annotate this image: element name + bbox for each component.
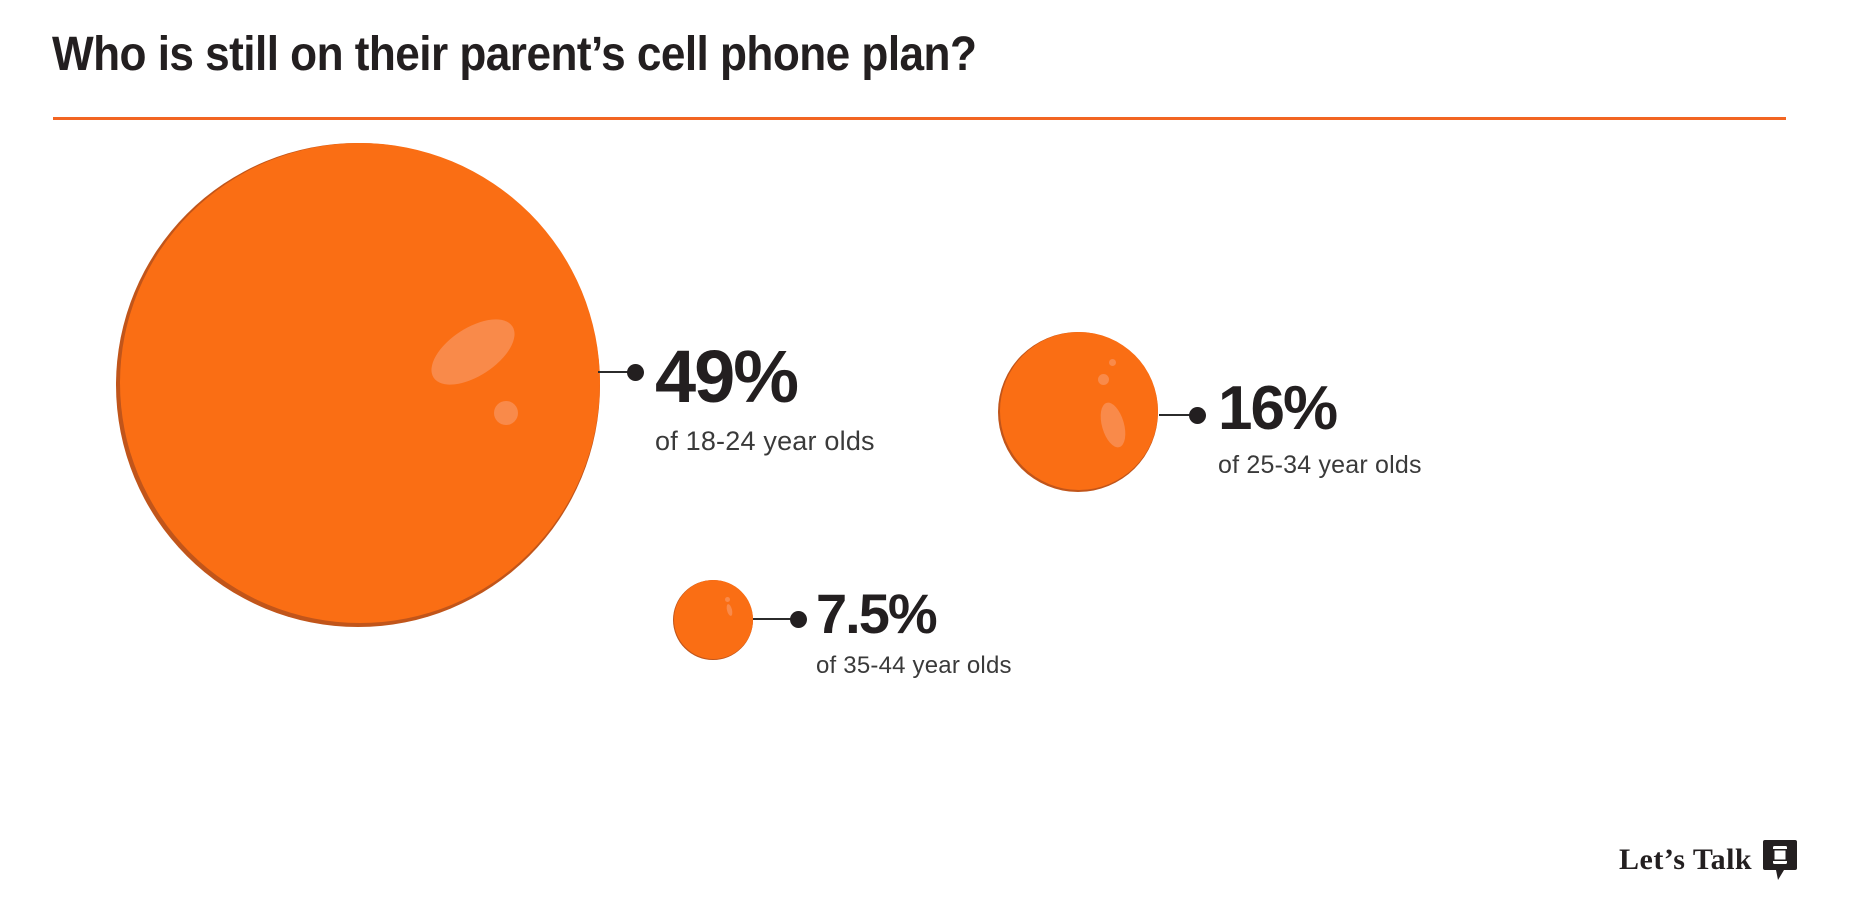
bubble-highlight-dot-small-icon: [1109, 359, 1116, 366]
infographic-canvas: Who is still on their parent’s cell phon…: [0, 0, 1854, 916]
bubble-body: [674, 580, 753, 659]
leader-dot-16: [1189, 407, 1206, 424]
title-divider: [53, 117, 1786, 120]
callout-caption-7-5: of 35-44 year olds: [816, 652, 1012, 680]
callout-value-16: 16%: [1218, 378, 1422, 440]
logo-text: Let’s Talk: [1619, 843, 1752, 877]
callout-16-percent: 16% of 25-34 year olds: [1218, 378, 1422, 480]
leader-dot-49: [627, 364, 644, 381]
callout-7-5-percent: 7.5% of 35-44 year olds: [816, 586, 1012, 680]
bubble-49-percent: [116, 143, 600, 627]
callout-value-49: 49%: [655, 340, 875, 414]
bubble-16-percent: [998, 332, 1158, 492]
bubble-highlight-dot-icon: [494, 401, 518, 425]
bubble-highlight-dot-icon: [725, 597, 730, 602]
callout-value-7-5: 7.5%: [816, 586, 1012, 642]
callout-caption-16: of 25-34 year olds: [1218, 451, 1422, 480]
page-title: Who is still on their parent’s cell phon…: [52, 27, 976, 82]
bubble-highlight-dot-icon: [1098, 374, 1109, 385]
bubble-7-5-percent: [673, 580, 753, 660]
brand-logo: Let’s Talk: [1619, 838, 1798, 882]
bubble-body: [120, 143, 600, 623]
callout-49-percent: 49% of 18-24 year olds: [655, 340, 875, 457]
speech-bubble-phone-icon: [1762, 838, 1798, 882]
callout-caption-49: of 18-24 year olds: [655, 426, 875, 457]
leader-dot-7-5: [790, 611, 807, 628]
bubble-body: [1000, 332, 1158, 490]
